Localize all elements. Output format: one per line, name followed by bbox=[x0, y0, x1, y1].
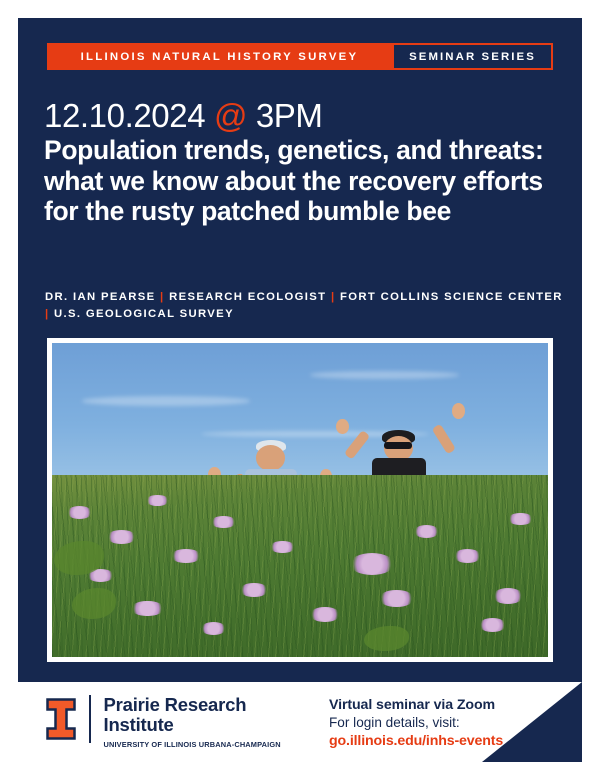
cloud-wisp bbox=[310, 371, 459, 379]
eyebrow-organization-label: ILLINOIS NATURAL HISTORY SURVEY bbox=[81, 51, 359, 63]
event-datetime: 12.10.2024 @ 3PM bbox=[44, 97, 323, 135]
speaker-name: DR. IAN PEARSE bbox=[45, 291, 156, 303]
photo-frame bbox=[47, 338, 553, 662]
bee-balm-bloom bbox=[508, 513, 533, 526]
event-time: 3PM bbox=[256, 97, 323, 134]
bee-balm-bloom bbox=[414, 525, 439, 538]
logo-line-2: Institute bbox=[104, 715, 281, 735]
zoom-heading: Virtual seminar via Zoom bbox=[329, 696, 503, 714]
prairie-research-institute-logo: Prairie Research Institute UNIVERSITY OF… bbox=[46, 695, 281, 749]
at-symbol: @ bbox=[214, 97, 247, 134]
prairie-field bbox=[52, 475, 548, 657]
bee-balm-bloom bbox=[493, 588, 523, 604]
cloud-wisp bbox=[82, 396, 251, 405]
bee-balm-bloom bbox=[67, 506, 92, 519]
speaker-agency: U.S. GEOLOGICAL SURVEY bbox=[54, 308, 234, 320]
logo-wordmark: Prairie Research Institute UNIVERSITY OF… bbox=[104, 695, 281, 749]
grass-texture bbox=[52, 475, 548, 657]
logo-subtitle: UNIVERSITY OF ILLINOIS URBANA-CHAMPAIGN bbox=[104, 740, 281, 749]
logo-divider bbox=[89, 695, 91, 743]
bee-balm-bloom bbox=[454, 549, 481, 563]
bee-balm-bloom bbox=[171, 549, 201, 563]
speaker-credentials: DR. IAN PEARSE | RESEARCH ECOLOGIST | FO… bbox=[45, 289, 565, 323]
bee-balm-bloom bbox=[479, 618, 506, 632]
page-title: Population trends, genetics, and threats… bbox=[44, 135, 556, 227]
bee-balm-bloom bbox=[211, 516, 236, 529]
prairie-photo bbox=[52, 343, 548, 657]
bee-balm-bloom bbox=[107, 530, 137, 544]
speaker-role: RESEARCH ECOLOGIST bbox=[169, 291, 326, 303]
left-hand bbox=[336, 419, 349, 435]
eyebrow-organization-bar: ILLINOIS NATURAL HISTORY SURVEY bbox=[47, 43, 392, 70]
speaker-center: FORT COLLINS SCIENCE CENTER bbox=[340, 291, 563, 303]
eyebrow-bar: ILLINOIS NATURAL HISTORY SURVEY SEMINAR … bbox=[47, 43, 553, 70]
separator-2: | bbox=[331, 291, 336, 303]
separator-1: | bbox=[160, 291, 165, 303]
bee-balm-bloom bbox=[146, 495, 168, 506]
block-i-icon bbox=[46, 698, 76, 740]
bee-balm-bloom bbox=[131, 601, 163, 617]
zoom-details: Virtual seminar via Zoom For login detai… bbox=[329, 696, 503, 750]
poster-footer: Prairie Research Institute UNIVERSITY OF… bbox=[18, 682, 582, 762]
zoom-instruction: For login details, visit: bbox=[329, 714, 503, 731]
seminar-poster: ILLINOIS NATURAL HISTORY SURVEY SEMINAR … bbox=[18, 18, 582, 762]
bee-balm-bloom bbox=[201, 622, 226, 635]
bee-balm-bloom bbox=[310, 607, 340, 623]
head bbox=[256, 445, 285, 470]
broad-leaf bbox=[364, 626, 409, 651]
separator-3: | bbox=[45, 308, 50, 320]
bee-balm-bloom bbox=[379, 590, 414, 607]
logo-line-1: Prairie Research bbox=[104, 695, 281, 715]
sunglasses bbox=[384, 442, 412, 449]
eyebrow-series-label: SEMINAR SERIES bbox=[409, 51, 536, 63]
event-date: 12.10.2024 bbox=[44, 97, 205, 134]
registration-url[interactable]: go.illinois.edu/inhs-events bbox=[329, 732, 503, 750]
right-hand bbox=[452, 403, 465, 419]
eyebrow-series-box: SEMINAR SERIES bbox=[392, 43, 553, 70]
